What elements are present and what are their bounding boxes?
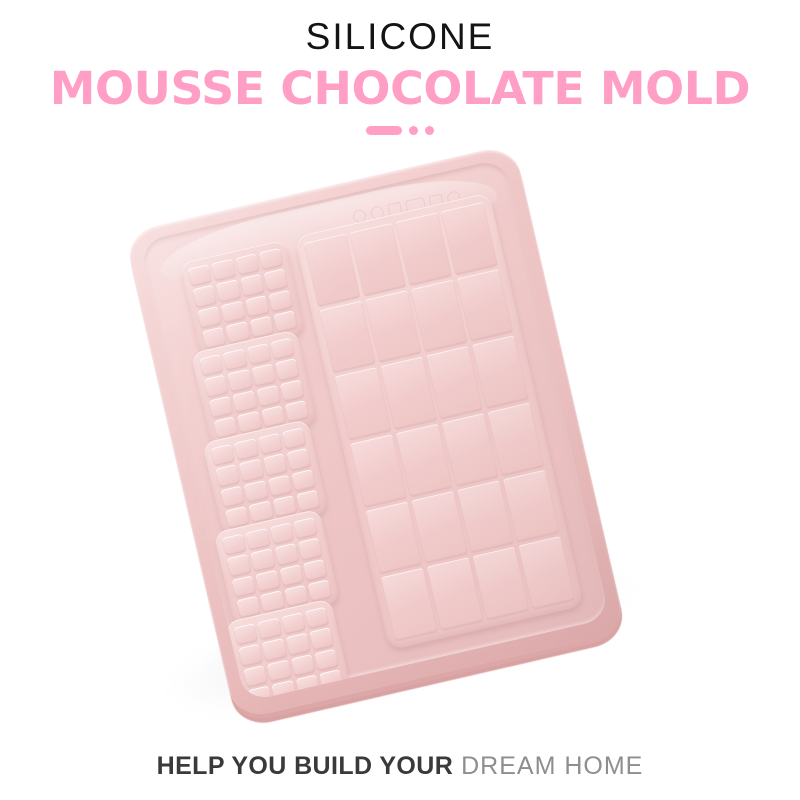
mold-cell [233, 623, 258, 646]
mold-cell [246, 528, 271, 551]
mold-cell [192, 285, 217, 308]
mold-cell [263, 269, 288, 292]
mold-cell [290, 654, 315, 677]
tray-inner-pan [139, 158, 610, 702]
mold-cell [262, 638, 287, 661]
footer-block: HELP YOU BUILD YOUR DREAM HOME [0, 752, 800, 781]
mold-cell [279, 379, 304, 402]
mold-cell [223, 348, 248, 371]
mold-cell [267, 659, 292, 682]
mold-cell [275, 358, 300, 381]
mold-cell [210, 444, 235, 467]
mold-cell [281, 427, 306, 450]
mold-cell [457, 269, 513, 342]
mold-cell [293, 517, 318, 540]
mold-cell [227, 554, 252, 577]
mold-cell [239, 459, 264, 482]
mold-cell [441, 202, 497, 275]
mold-cell [220, 485, 245, 508]
mold-cell [307, 579, 332, 602]
mold-cell [197, 306, 222, 329]
mold-cell [298, 538, 323, 561]
mold-cell [204, 375, 229, 398]
mold-cell [251, 364, 276, 387]
mold-cell [215, 464, 240, 487]
mold-cell [232, 390, 257, 413]
mold-cell [255, 569, 280, 592]
mold-cell [268, 289, 293, 312]
mold-cell [216, 279, 241, 302]
mold-cell [246, 343, 271, 366]
product-image [0, 0, 800, 800]
mold-cell [258, 433, 283, 456]
mold-cell [244, 480, 269, 503]
mold-cell [243, 664, 268, 687]
mold-cell [250, 549, 275, 572]
mold-cell [263, 453, 288, 476]
mold-cell [240, 274, 265, 297]
footer-text-light: DREAM HOME [453, 752, 643, 780]
silicone-mold-tray [124, 143, 626, 720]
mold-cell [232, 575, 257, 598]
mold-cell [309, 627, 334, 650]
mold-cell [296, 489, 321, 512]
mold-cell [273, 310, 298, 333]
mold-cell [286, 448, 311, 471]
mold-cell [472, 336, 528, 409]
mold-cell [267, 474, 292, 497]
mold-cell [244, 295, 269, 318]
mold-cell [503, 469, 559, 542]
mold-cell [284, 400, 309, 423]
mold-cell [209, 395, 234, 418]
mold-cell [221, 300, 246, 323]
mold-cell [257, 618, 282, 641]
mold-cell [314, 648, 339, 671]
mold-cell [304, 607, 329, 630]
mold-cell [291, 469, 316, 492]
mold-cell [281, 612, 306, 635]
mold-cell [279, 564, 304, 587]
mold-cell [285, 633, 310, 656]
mold-cell [211, 259, 236, 282]
mold-cell [199, 354, 224, 377]
mold-cell [235, 253, 260, 276]
mold-cell [238, 644, 263, 667]
mold-cell [302, 558, 327, 581]
mold-cell [270, 338, 295, 361]
mold-cell [258, 248, 283, 271]
mold-cell [269, 522, 294, 545]
mold-cell [222, 533, 247, 556]
mold-cell [518, 536, 574, 609]
mold-cell [256, 384, 281, 407]
mold-cell [274, 543, 299, 566]
mold-cell [227, 369, 252, 392]
mold-cell [188, 264, 213, 287]
mold-cell [487, 403, 543, 476]
footer-text-strong: HELP YOU BUILD YOUR [157, 752, 454, 780]
mold-cell [234, 438, 259, 461]
